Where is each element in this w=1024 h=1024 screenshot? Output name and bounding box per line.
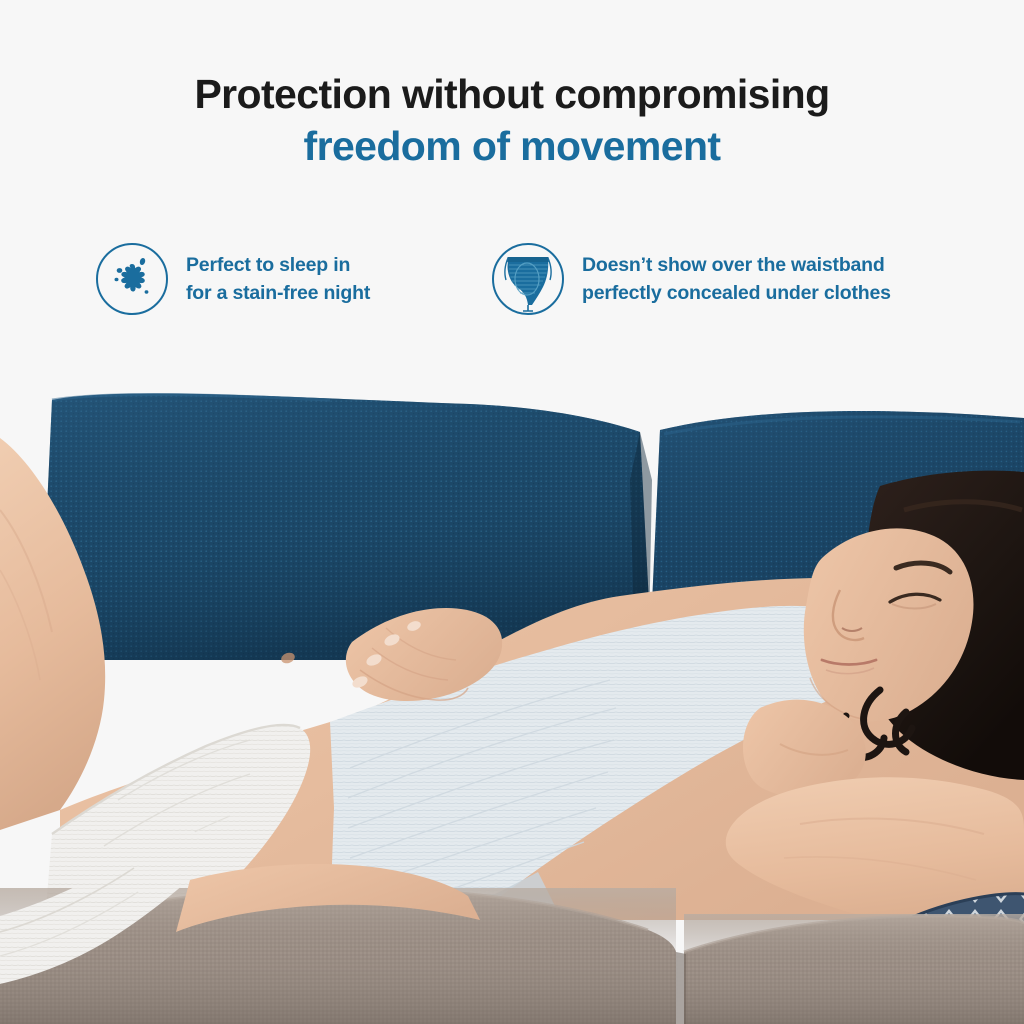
lifestyle-photo — [0, 360, 1024, 1024]
grey-seat-cushion-right — [684, 914, 1024, 1024]
page-title: Protection without compromising freedom … — [0, 68, 1024, 172]
headline-line-2: freedom of movement — [0, 120, 1024, 172]
banner-header: Protection without compromising freedom … — [0, 0, 1024, 380]
splash-icon — [96, 243, 168, 315]
feature-item-sleep: Perfect to sleep in for a stain-free nig… — [96, 243, 370, 315]
product-banner-page: Protection without compromising freedom … — [0, 0, 1024, 1024]
feature-list: Perfect to sleep in for a stain-free nig… — [0, 243, 1024, 353]
feature-line-2: for a stain-free night — [186, 279, 370, 307]
feature-line-1: Perfect to sleep in — [186, 251, 370, 279]
underwear-icon — [492, 243, 564, 315]
photo-illustration — [0, 360, 1024, 1024]
headline-line-1: Protection without compromising — [0, 68, 1024, 120]
feature-line-1: Doesn’t show over the waistband — [582, 251, 891, 279]
feature-text-sleep: Perfect to sleep in for a stain-free nig… — [186, 251, 370, 307]
feature-text-concealed: Doesn’t show over the waistband perfectl… — [582, 251, 891, 307]
seat-seam — [676, 952, 686, 1024]
feature-item-concealed: Doesn’t show over the waistband perfectl… — [492, 243, 891, 315]
feature-line-2: perfectly concealed under clothes — [582, 279, 891, 307]
